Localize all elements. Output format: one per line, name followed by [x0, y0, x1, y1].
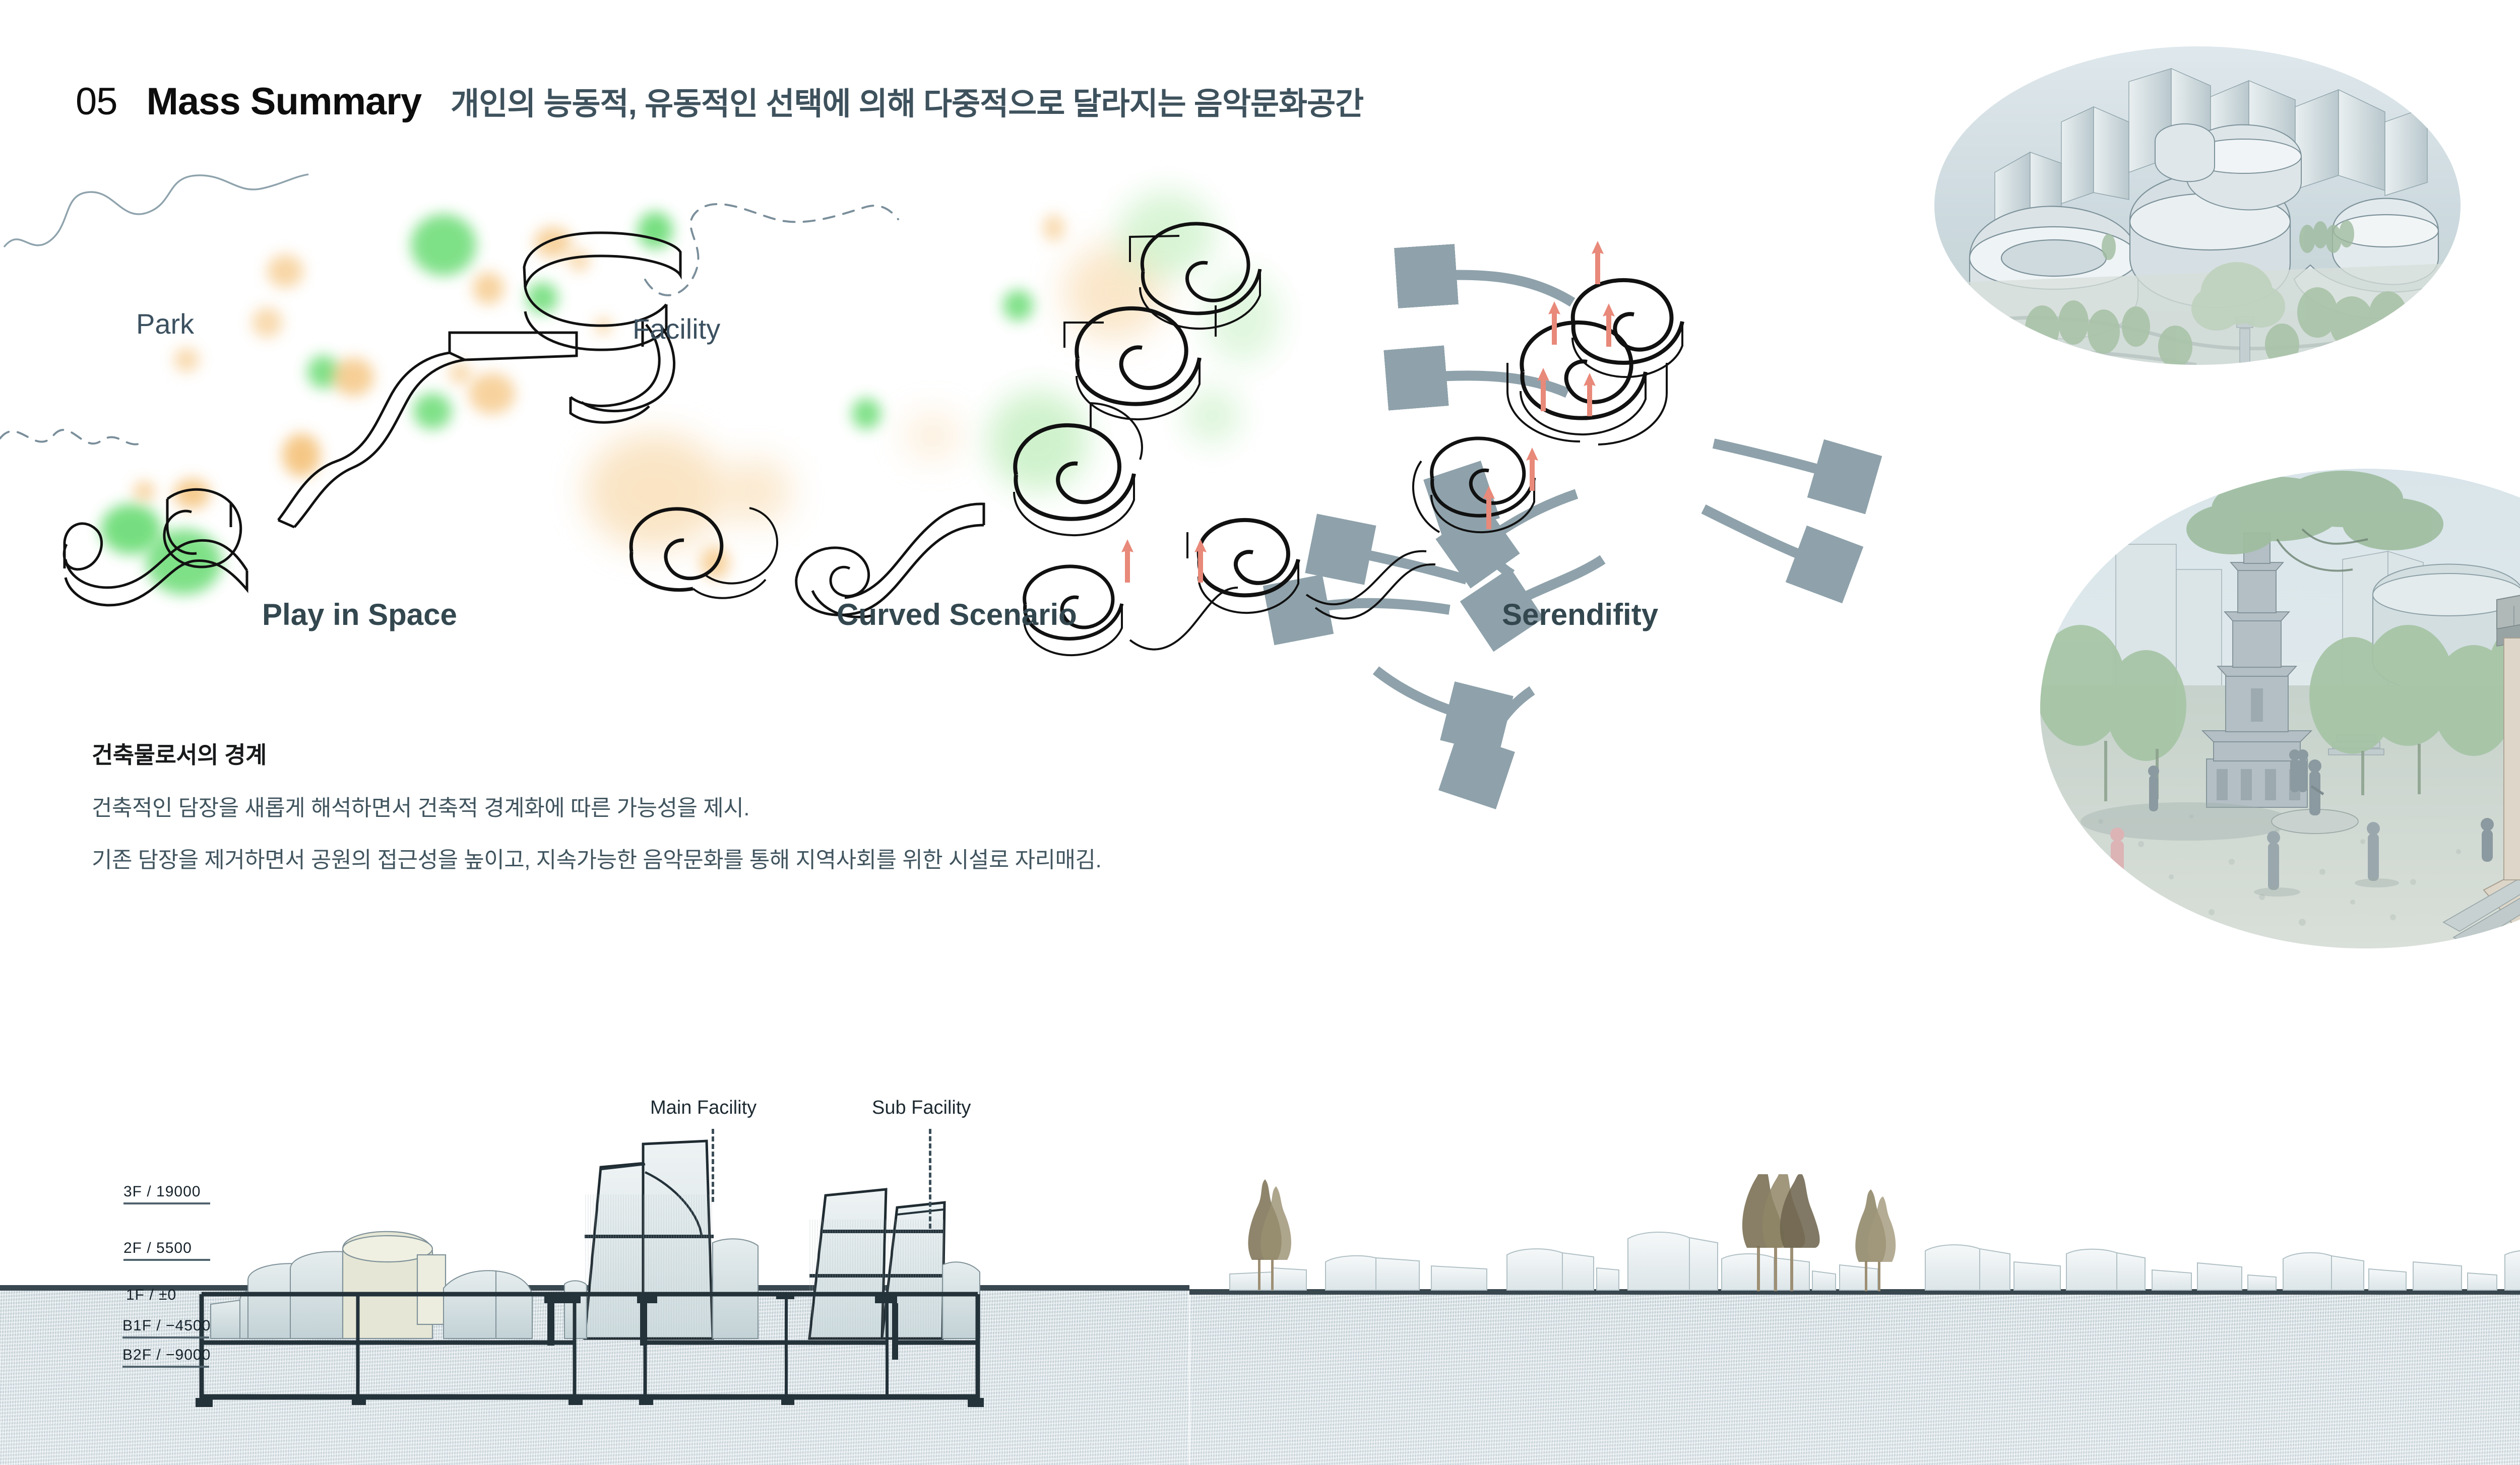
- level-marker-b2f: B2F / −9000: [122, 1347, 211, 1368]
- diagram-caption-serendifity: Serendifity: [1502, 597, 1658, 632]
- diagram-caption-play-in-space: Play in Space: [262, 597, 457, 632]
- section-label-sub-facility: Sub Facility: [872, 1097, 971, 1119]
- description-block: 건축물로서의 경계 건축적인 담장을 새롭게 해석하면서 건축적 경계화에 따른…: [92, 737, 1805, 898]
- section-number: 05: [76, 80, 117, 123]
- ground-texture-seam: [1188, 1289, 1190, 1465]
- leader-line-sub-facility: [929, 1129, 931, 1229]
- orange-wash: [905, 413, 960, 459]
- leader-line-main-facility: [712, 1129, 714, 1202]
- diagram-label-facility: Facility: [633, 312, 720, 345]
- level-marker-1f: 1F / ±0: [126, 1287, 176, 1304]
- page-header: 05 Mass Summary 개인의 능동적, 유동적인 선택에 의해 다중적…: [76, 78, 1363, 123]
- green-blob: [852, 398, 881, 429]
- level-marker-3f: 3F / 19000: [123, 1183, 210, 1204]
- presentation-board: 05 Mass Summary 개인의 능동적, 유동적인 선택에 의해 다중적…: [0, 0, 2520, 1465]
- level-marker-b1f: B1F / −4500: [122, 1317, 211, 1339]
- level-label-3f: 3F / 19000: [123, 1183, 210, 1200]
- render-aerial-massing-view: [1934, 46, 2461, 365]
- level-label-b2f: B2F / −9000: [122, 1347, 211, 1364]
- site-section-drawing: Main Facility Sub Facility 3F / 19000 2F…: [0, 1058, 2520, 1465]
- description-paragraph-1: 건축적인 담장을 새롭게 해석하면서 건축적 경계화에 따른 가능성을 제시.: [92, 794, 1805, 822]
- page-subtitle: 개인의 능동적, 유동적인 선택에 의해 다중적으로 달라지는 음악문화공간: [451, 78, 1363, 123]
- level-label-1f: 1F / ±0: [126, 1287, 176, 1304]
- orange-blob: [174, 348, 199, 372]
- green-blob: [411, 214, 476, 276]
- basement-structure: [192, 1288, 1079, 1439]
- diagram-label-park: Park: [136, 307, 194, 340]
- section-label-main-facility: Main Facility: [650, 1097, 757, 1119]
- diagram-caption-curved-scenario: Curved Scenario: [837, 597, 1077, 632]
- level-rule-b1f: [122, 1336, 209, 1339]
- mass-concept-diagram: Park Facility Play in Space Curved Scena…: [0, 166, 1895, 690]
- page-title: Mass Summary: [147, 80, 422, 123]
- level-label-2f: 2F / 5500: [123, 1240, 210, 1257]
- level-marker-2f: 2F / 5500: [123, 1240, 210, 1261]
- orange-blob: [473, 272, 504, 304]
- level-label-b1f: B1F / −4500: [122, 1317, 211, 1334]
- thin-route-right: [0, 166, 312, 267]
- orange-blob: [1043, 214, 1064, 241]
- description-heading: 건축물로서의 경계: [92, 737, 1805, 770]
- poplar-trees-section: [1210, 1174, 2520, 1291]
- up-arrow-cluster: [1250, 227, 1895, 625]
- render-eye-level-park-view: [2040, 469, 2520, 948]
- level-rule-b2f: [122, 1366, 209, 1368]
- green-blob: [1003, 290, 1033, 321]
- level-rule-3f: [123, 1202, 210, 1204]
- level-rule-2f: [123, 1259, 210, 1261]
- description-paragraph-2: 기존 담장을 제거하면서 공원의 접근성을 높이고, 지속가능한 음악문화를 통…: [92, 846, 1805, 874]
